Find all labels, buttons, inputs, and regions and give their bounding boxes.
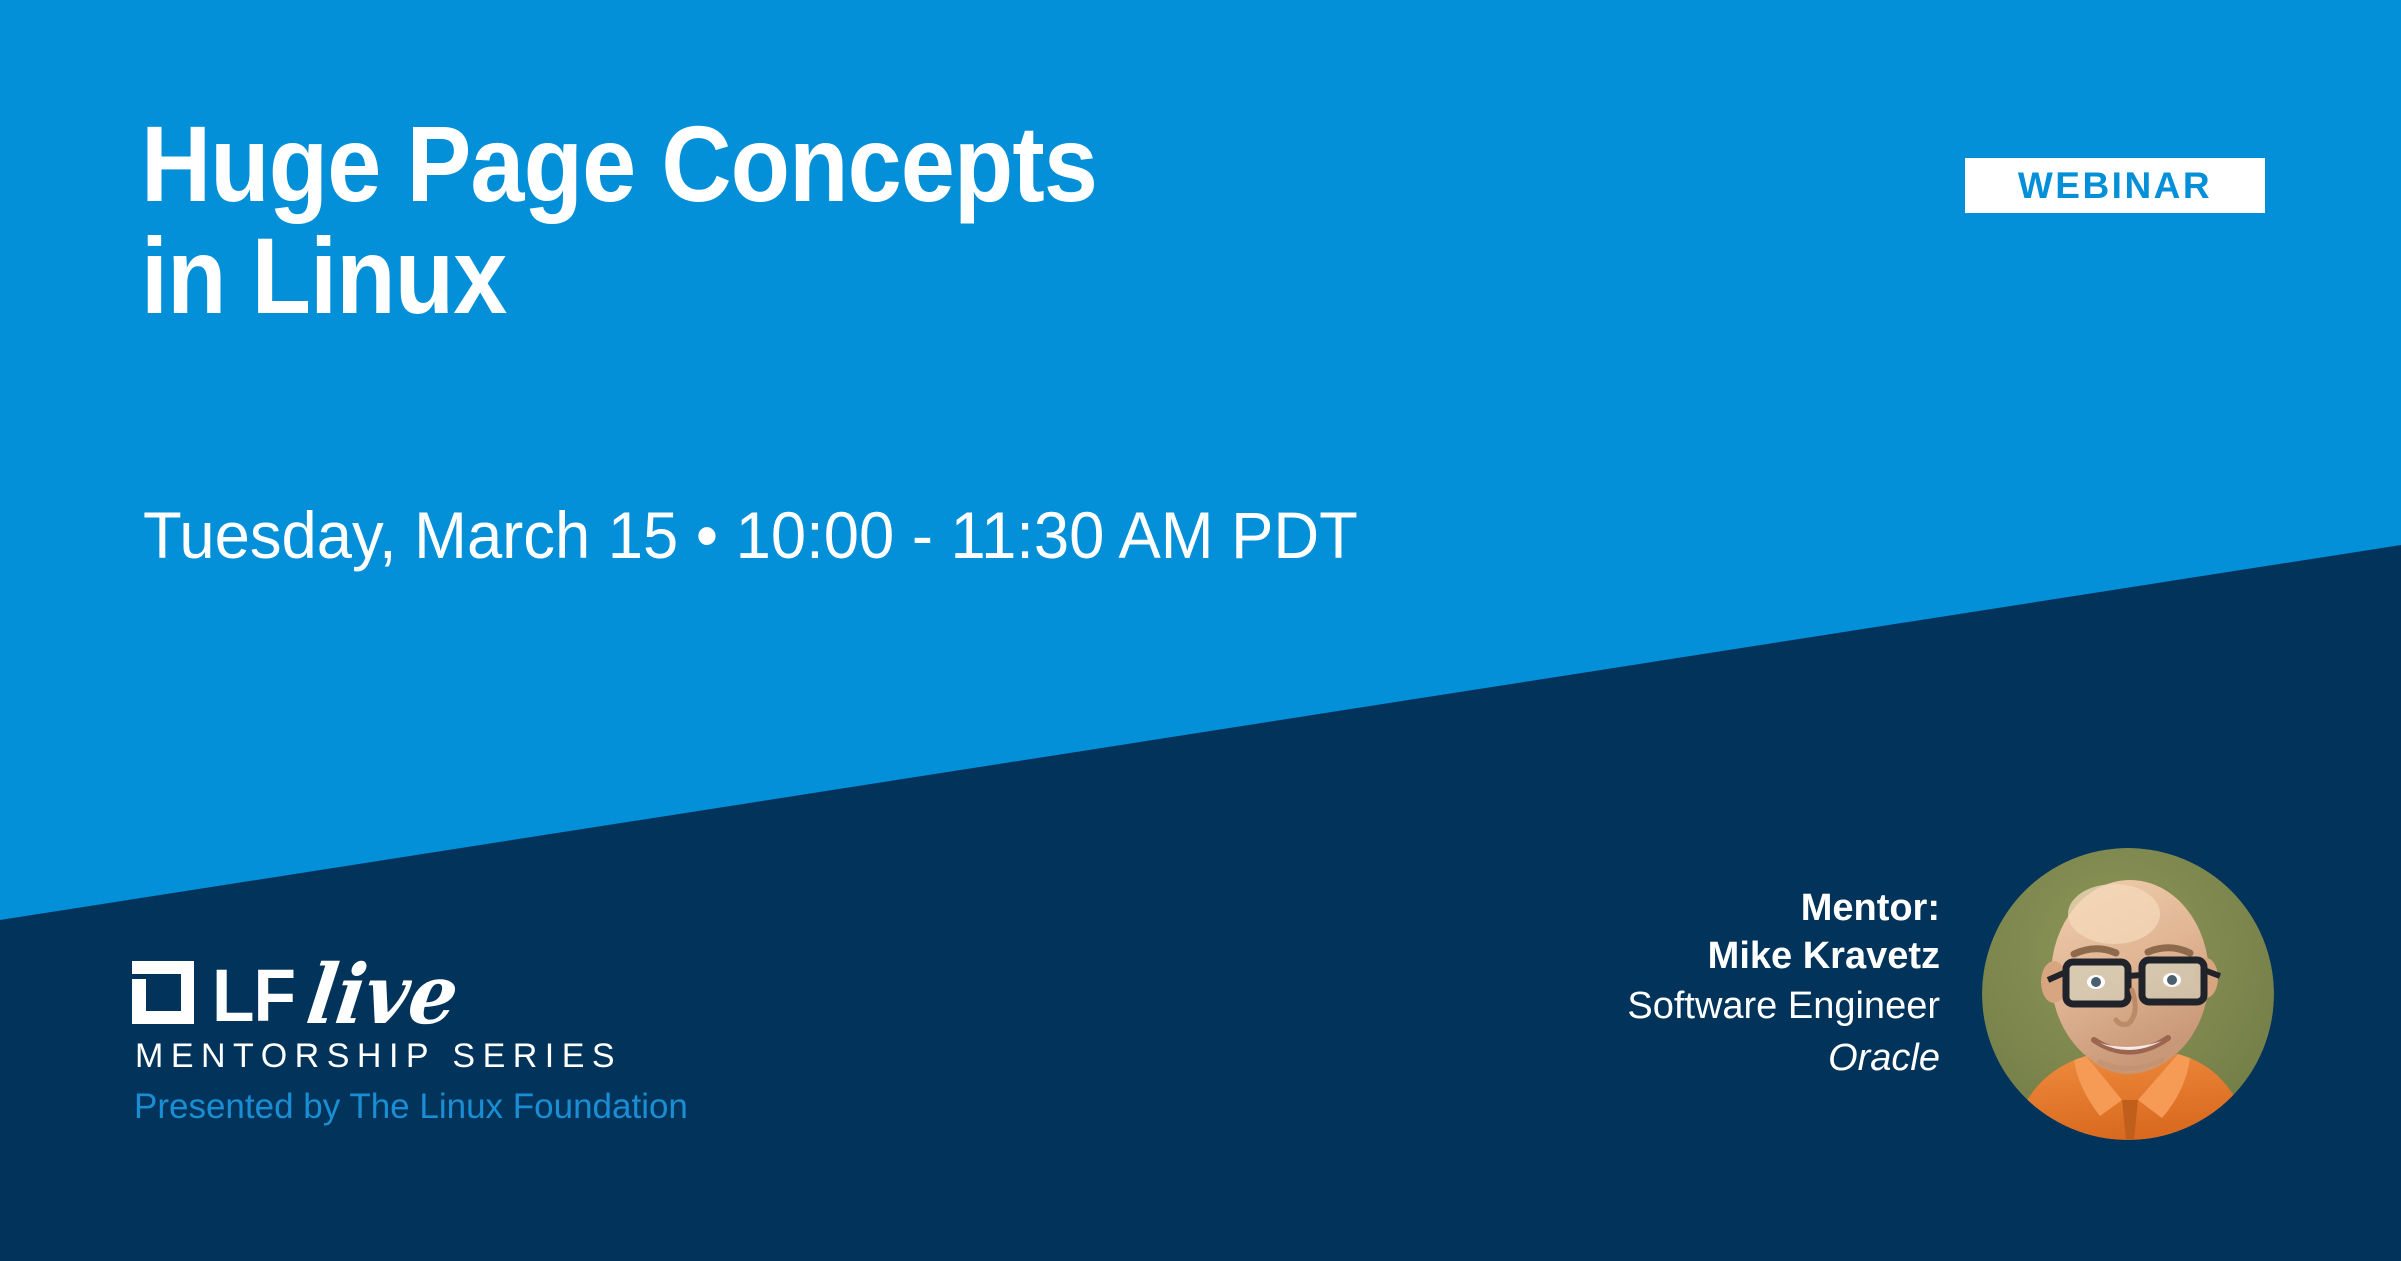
event-datetime: Tuesday, March 15 • 10:00 - 11:30 AM PDT — [143, 499, 1358, 571]
title-line-1: Huge Page Concepts — [141, 108, 1581, 220]
logo-wordmark-row: LF live — [132, 948, 688, 1026]
speaker-name: Mike Kravetz — [1240, 932, 1940, 980]
title-line-2: in Linux — [141, 220, 1581, 332]
webinar-badge-label: WEBINAR — [2018, 167, 2212, 204]
avatar — [1982, 848, 2274, 1140]
speaker-job-title: Software Engineer — [1240, 980, 1940, 1032]
logo-lf-text: LF — [212, 966, 295, 1026]
logo-presented-by-text: Presented by The Linux Foundation — [134, 1086, 688, 1128]
headshot-illustration — [1982, 848, 2274, 1140]
webinar-banner: WEBINAR Huge Page Concepts in Linux Tues… — [0, 0, 2401, 1261]
speaker-info: Mentor: Mike Kravetz Software Engineer O… — [1240, 884, 1940, 1084]
lf-square-bracket-icon — [132, 961, 208, 1024]
speaker-role-label: Mentor: — [1240, 884, 1940, 932]
speaker-company: Oracle — [1240, 1032, 1940, 1084]
webinar-badge: WEBINAR — [1965, 158, 2265, 213]
page-title: Huge Page Concepts in Linux — [141, 108, 1741, 332]
logo-live-script: live — [304, 964, 462, 1026]
lf-live-logo: LF live MENTORSHIP SERIES Presented by T… — [132, 948, 688, 1128]
